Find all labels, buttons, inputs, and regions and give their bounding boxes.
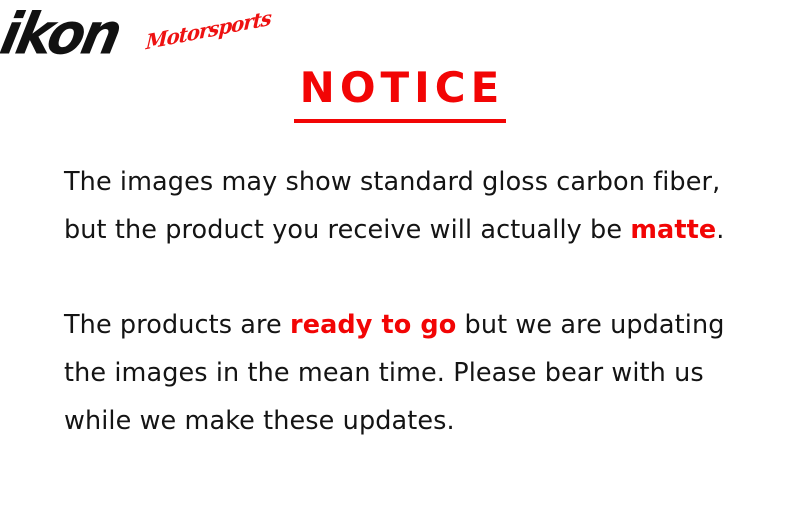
brand-script-motorsports: Motorsports — [145, 7, 271, 52]
emphasis-text: ready to go — [290, 310, 456, 340]
brand-wordmark: ikon — [0, 6, 124, 63]
emphasis-text: matte — [630, 215, 716, 245]
notice-heading-container: NOTICE — [0, 63, 800, 123]
page-title: NOTICE — [294, 63, 507, 123]
notice-paragraph-gloss-vs-matte: The images may show standard gloss carbo… — [64, 158, 764, 254]
brand-logo: ikon Motorsports — [6, 4, 256, 70]
notice-body: The images may show standard gloss carbo… — [64, 158, 764, 445]
notice-paragraph-updating-images: The products are ready to go but we are … — [64, 301, 764, 445]
notice-page: ikon Motorsports NOTICE The images may s… — [0, 0, 800, 510]
